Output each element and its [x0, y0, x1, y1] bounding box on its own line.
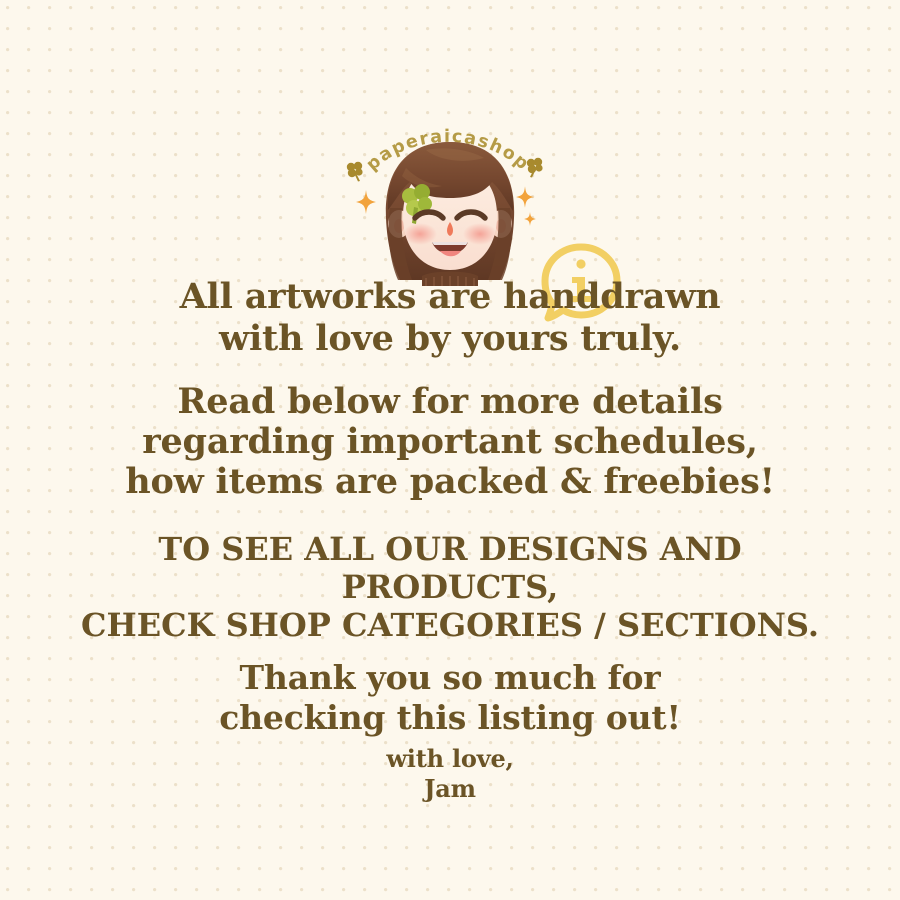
- blush-right: [463, 223, 497, 245]
- caps-line-3: CHECK SHOP CATEGORIES / SECTIONS.: [0, 606, 900, 644]
- caps-line-2: PRODUCTS,: [0, 568, 900, 606]
- thanks-line-2: checking this listing out!: [0, 698, 900, 738]
- intro-line-2: with love by yours truly.: [0, 318, 900, 360]
- categories-text-block: TO SEE ALL OUR DESIGNS AND PRODUCTS, CHE…: [0, 530, 900, 644]
- caps-line-1: TO SEE ALL OUR DESIGNS AND: [0, 530, 900, 568]
- intro-line-1: All artworks are handdrawn: [0, 276, 900, 318]
- read-below-text-block: Read below for more details regarding im…: [0, 382, 900, 502]
- thanks-text-block: Thank you so much for checking this list…: [0, 658, 900, 738]
- intro-text-block: All artworks are handdrawn with love by …: [0, 276, 900, 360]
- read-below-line-1: Read below for more details: [0, 382, 900, 422]
- copy-area: All artworks are handdrawn with love by …: [0, 276, 900, 804]
- read-below-line-3: how items are packed & freebies!: [0, 462, 900, 502]
- thanks-line-1: Thank you so much for: [0, 658, 900, 698]
- shop-logo: paperaicashop: [348, 108, 548, 286]
- signature-line-2: Jam: [0, 774, 900, 804]
- header-zone: paperaicashop: [0, 108, 900, 286]
- signature-line-1: with love,: [0, 744, 900, 774]
- info-card: paperaicashop: [0, 0, 900, 900]
- signature-block: with love, Jam: [0, 744, 900, 804]
- blush-left: [403, 223, 437, 245]
- avatar: [366, 138, 534, 286]
- read-below-line-2: regarding important schedules,: [0, 422, 900, 462]
